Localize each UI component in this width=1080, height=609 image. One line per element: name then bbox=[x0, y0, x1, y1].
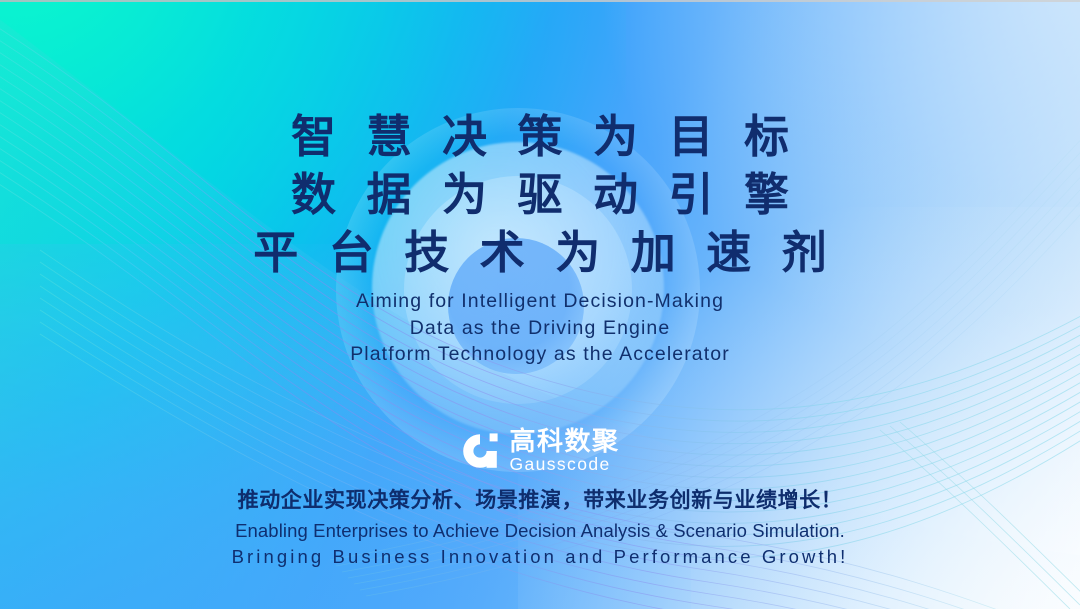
headline-line-1: 智 慧 决 策 为 目 标 bbox=[0, 108, 1080, 166]
headline-block: 智 慧 决 策 为 目 标 数 据 为 驱 动 引 擎 平 台 技 术 为 加 … bbox=[0, 108, 1080, 282]
brand-logo: 高科数聚 Gausscode bbox=[0, 428, 1080, 474]
subheadline-line-2: Data as the Driving Engine bbox=[0, 315, 1080, 342]
brand-name-cn: 高科数聚 bbox=[509, 428, 619, 454]
tagline-chinese: 推动企业实现决策分析、场景推演，带来业务创新与业绩增长！ bbox=[0, 484, 1080, 514]
brand-name-en: Gausscode bbox=[509, 456, 619, 474]
subheadline-block: Aiming for Intelligent Decision-Making D… bbox=[0, 288, 1080, 368]
headline-line-2: 数 据 为 驱 动 引 擎 bbox=[0, 166, 1080, 224]
headline-line-3: 平 台 技 术 为 加 速 剂 bbox=[0, 224, 1080, 282]
slide-content: 智 慧 决 策 为 目 标 数 据 为 驱 动 引 擎 平 台 技 术 为 加 … bbox=[0, 0, 1080, 609]
subheadline-line-1: Aiming for Intelligent Decision-Making bbox=[0, 288, 1080, 315]
tagline-english-line-1: Enabling Enterprises to Achieve Decision… bbox=[0, 518, 1080, 544]
tagline-english-line-2: Bringing Business Innovation and Perform… bbox=[0, 544, 1080, 570]
gausscode-g-mark-icon bbox=[460, 431, 500, 471]
top-edge-strip bbox=[0, 0, 1080, 2]
brand-logo-text: 高科数聚 Gausscode bbox=[509, 428, 619, 474]
tagline-english-block: Enabling Enterprises to Achieve Decision… bbox=[0, 518, 1080, 570]
subheadline-line-3: Platform Technology as the Accelerator bbox=[0, 341, 1080, 368]
slide-canvas: 智 慧 决 策 为 目 标 数 据 为 驱 动 引 擎 平 台 技 术 为 加 … bbox=[0, 0, 1080, 609]
